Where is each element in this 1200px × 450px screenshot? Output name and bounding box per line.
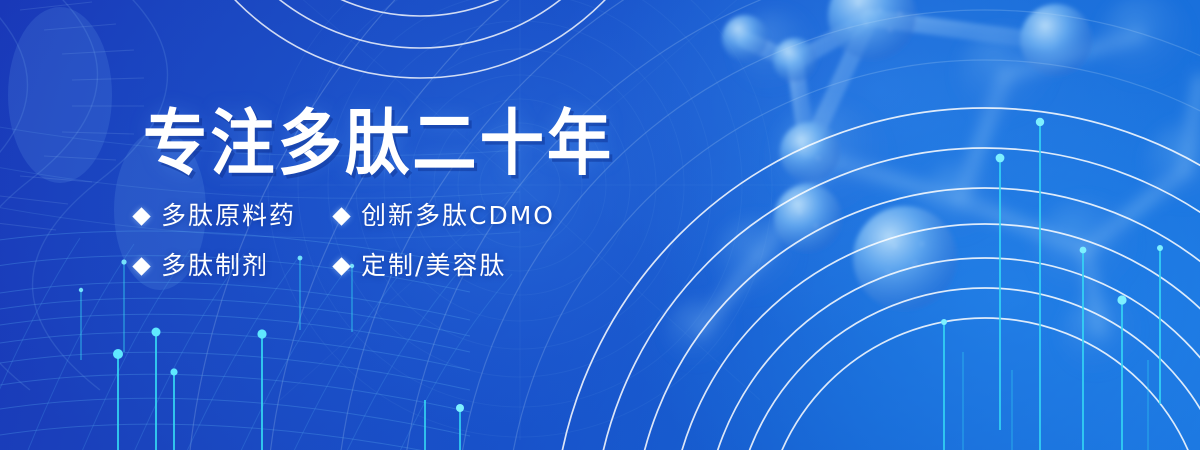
feature-label: 多肽原料药 [161,201,296,231]
hero-banner: 专注多肽二十年 多肽原料药 创新多肽CDMO 多肽制剂 [0,0,1200,450]
page-title: 专注多肽二十年 [143,108,767,180]
feature-row: 多肽制剂 定制/美容肽 [135,251,755,281]
diamond-bullet-icon [332,207,350,225]
diamond-bullet-icon [132,257,150,275]
banner-content: 专注多肽二十年 多肽原料药 创新多肽CDMO 多肽制剂 [135,112,755,281]
feature-item-peptide-formulation: 多肽制剂 [135,251,335,281]
diamond-bullet-icon [132,207,150,225]
feature-label: 创新多肽CDMO [361,201,555,231]
feature-list: 多肽原料药 创新多肽CDMO 多肽制剂 定制/美容肽 [135,201,755,281]
feature-row: 多肽原料药 创新多肽CDMO [135,201,755,231]
diamond-bullet-icon [332,257,350,275]
feature-item-innovative-cdmo: 创新多肽CDMO [335,201,555,231]
feature-item-peptide-api: 多肽原料药 [135,201,335,231]
feature-label: 多肽制剂 [161,251,269,281]
feature-item-custom-cosmetic-peptide: 定制/美容肽 [335,251,506,281]
feature-label: 定制/美容肽 [361,251,506,281]
